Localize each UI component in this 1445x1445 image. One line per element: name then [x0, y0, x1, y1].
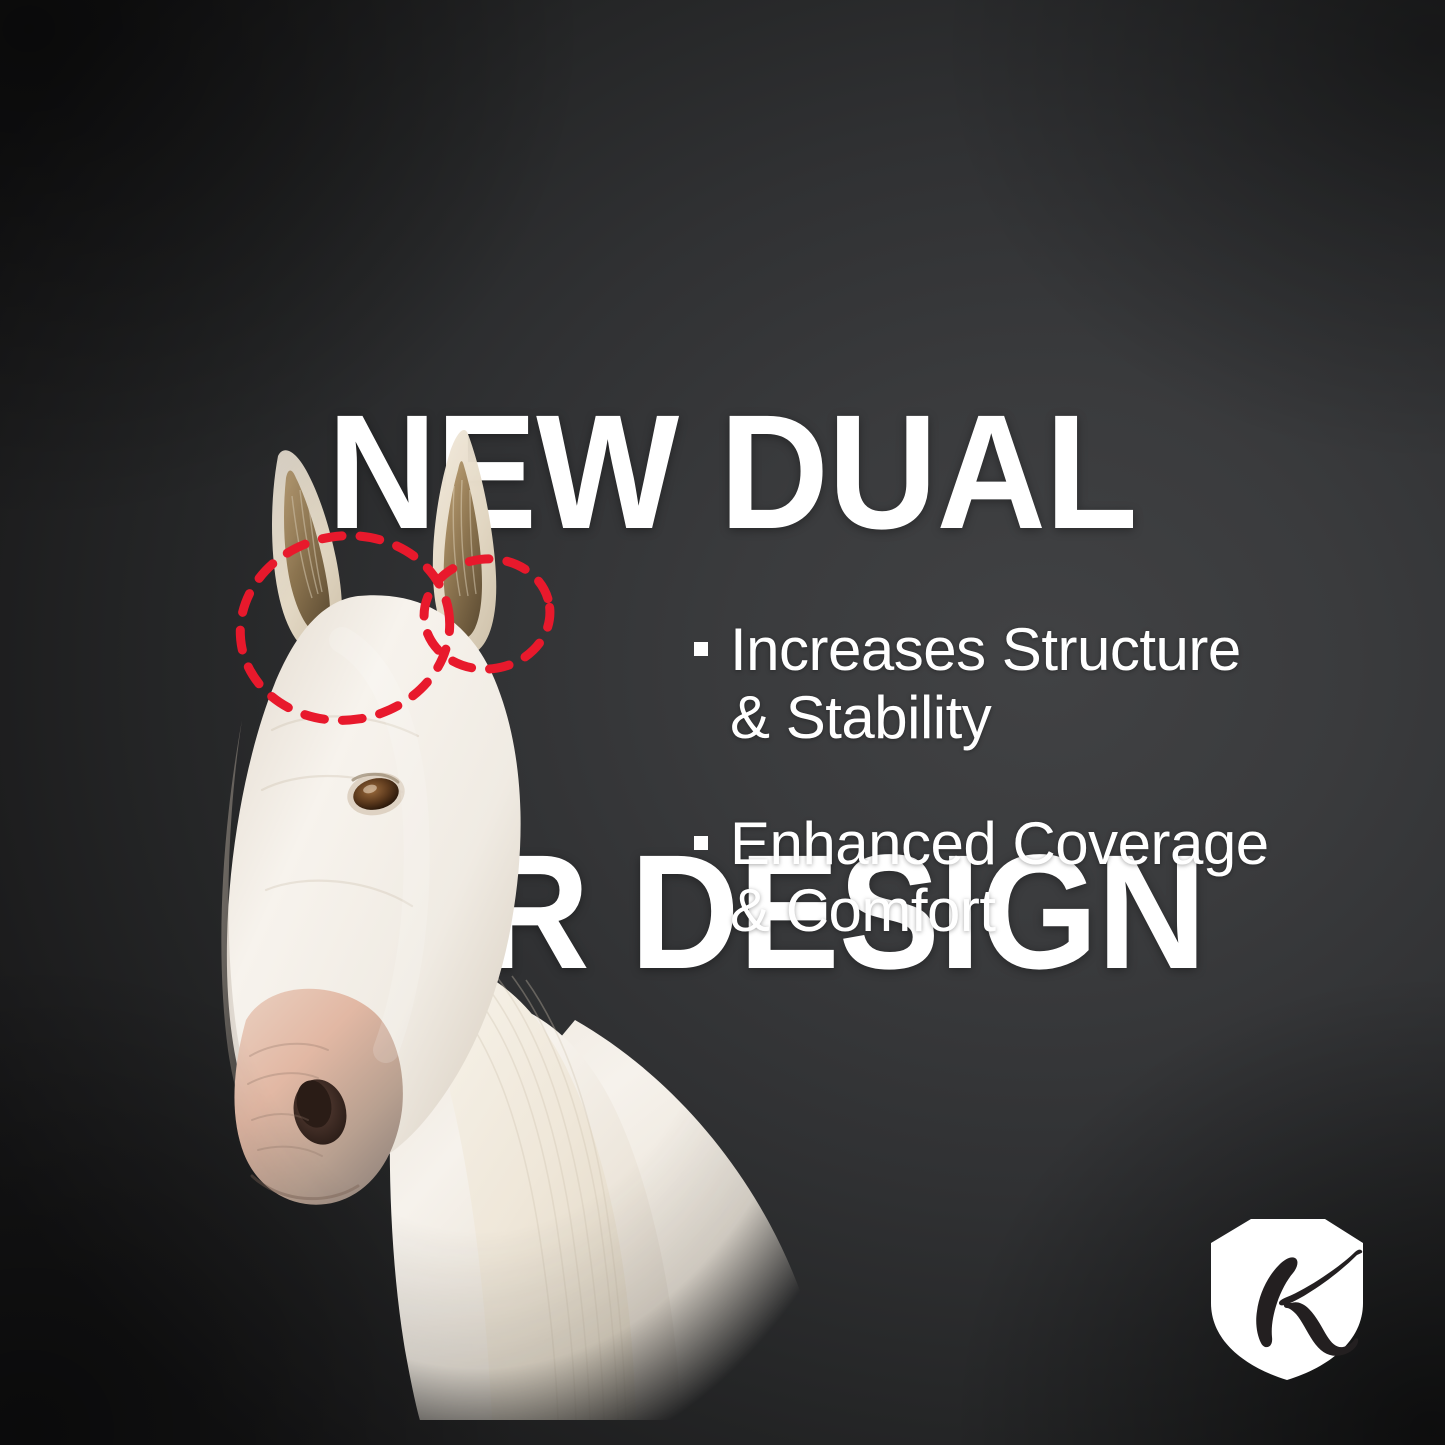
list-item-label: Enhanced Coverage & Comfort: [730, 810, 1269, 946]
list-item: Enhanced Coverage & Comfort: [694, 810, 1374, 946]
promo-image: NEW DUAL EAR DESIGN: [0, 0, 1445, 1445]
list-item-label: Increases Structure & Stability: [730, 616, 1241, 752]
square-bullet-icon: [694, 836, 708, 850]
square-bullet-icon: [694, 642, 708, 656]
list-item: Increases Structure & Stability: [694, 616, 1374, 752]
feature-list: Increases Structure & Stability Enhanced…: [694, 616, 1374, 1003]
brand-logo: [1205, 1215, 1369, 1383]
